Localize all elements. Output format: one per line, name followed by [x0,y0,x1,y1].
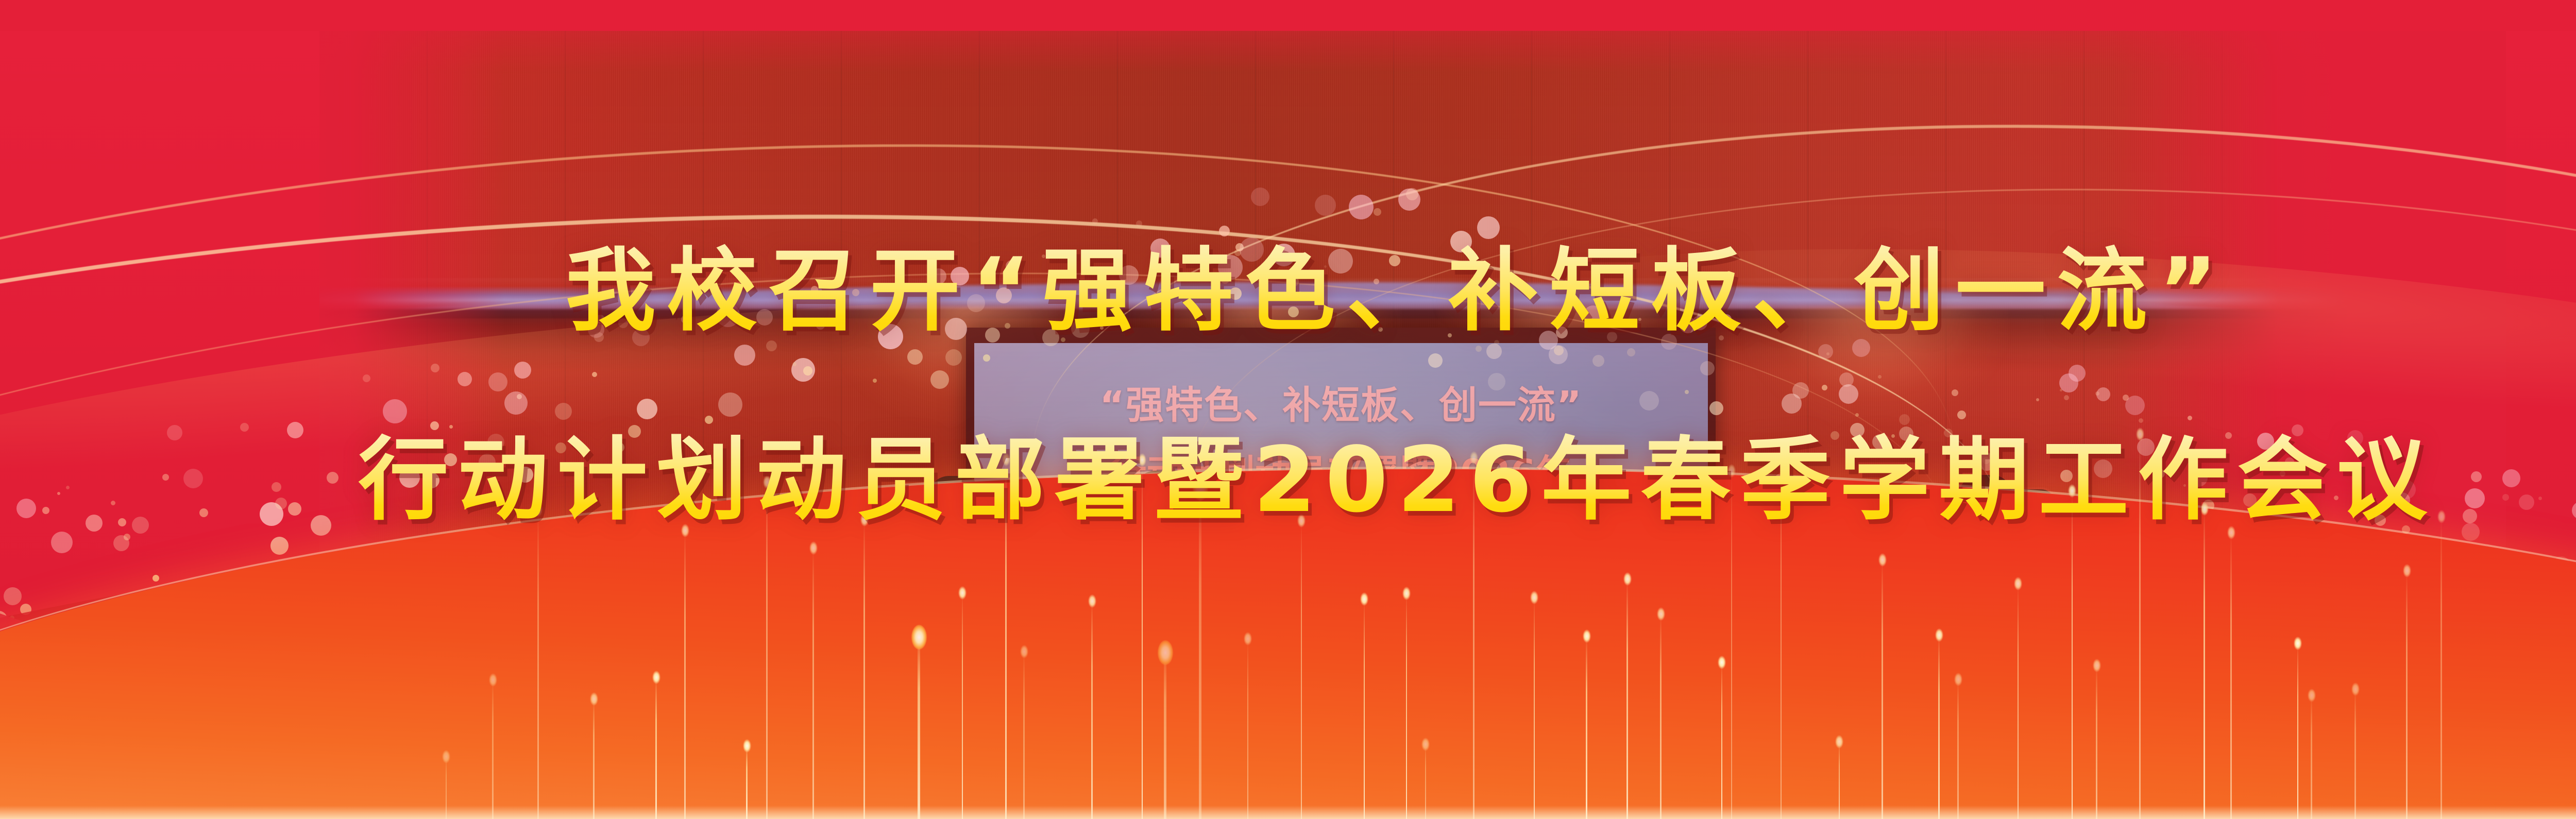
bokeh-particle [2397,480,2416,499]
bokeh-particle [2471,471,2482,482]
bokeh-particle [2417,510,2423,516]
bokeh-particle [2347,430,2363,446]
bokeh-particle [2463,509,2477,523]
bokeh-particle [2375,515,2386,526]
bokeh-particle [2465,488,2485,508]
news-banner: “强特色、补短板、创一流” 行动计划动员部署暨2026年 春季学期工作会议 西安… [0,0,2576,819]
light-streak-bulb [2437,510,2446,523]
bokeh-particle [2395,492,2410,508]
bottom-light-strip [0,806,2576,819]
top-red-strip [0,0,2576,31]
bokeh-particle [2462,523,2480,541]
